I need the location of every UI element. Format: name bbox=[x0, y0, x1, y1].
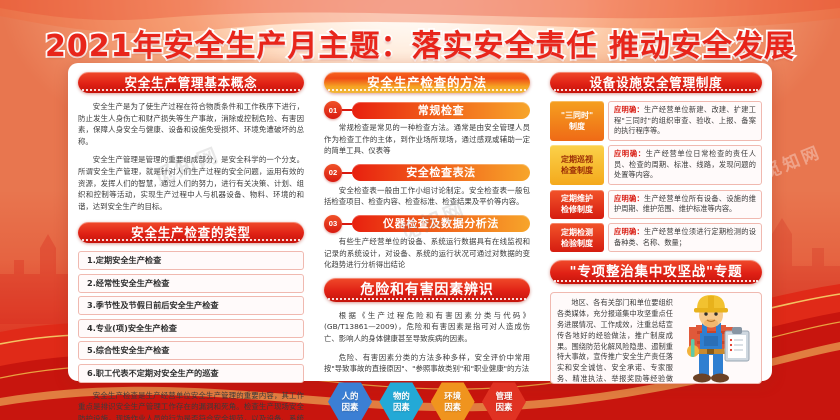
system-row-periodic-patrol: 定期巡视 检查制度 应明确：生产经营单位日常检查的责任人员、检查的周期、标准、线… bbox=[550, 145, 762, 185]
basic-concepts-paragraph-1: 安全生产是为了使生产过程在符合物质条件和工作秩序下进行，防止发生人身伤亡和财产损… bbox=[78, 101, 304, 147]
heading-inspection-methods: 安全生产检查的方法 bbox=[324, 72, 530, 93]
method-row-01: 01 常规检查 bbox=[324, 101, 530, 119]
hexagon-human-factor[interactable]: 人的 因素 bbox=[328, 382, 372, 420]
system-label: "三同时" 制度 bbox=[550, 101, 604, 141]
method-number-badge: 03 bbox=[324, 215, 342, 233]
hazard-paragraph-2: 危险、有害因素分类的方法多种多样，安全评价中常用按"导致事故的直接原因"、"参照… bbox=[324, 352, 530, 375]
system-label-line1: 定期巡视 bbox=[561, 154, 593, 165]
inspection-types-list: 1.定期安全生产检查 2.经常性安全生产检查 3.季节性及节假日前后安全生产检查… bbox=[78, 251, 304, 383]
system-row-three-simultaneous: "三同时" 制度 应明确：生产经营单位新建、改建、扩建工程"三同时"的组织审查、… bbox=[550, 101, 762, 141]
list-item[interactable]: 4.专业(项)安全生产检查 bbox=[78, 319, 304, 338]
poster-canvas: 2021年安全生产月主题：落实安全责任 推动安全发展 安全生产管理基本概念 安全… bbox=[0, 0, 840, 420]
method-title: 常规检查 bbox=[352, 102, 530, 119]
system-description-prefix: 应明确： bbox=[614, 105, 644, 114]
system-label: 定期巡视 检查制度 bbox=[550, 145, 604, 185]
hexagon-label-line2: 因素 bbox=[393, 402, 410, 413]
hexagon-environment-factor[interactable]: 环境 因素 bbox=[431, 382, 475, 420]
method-connector-dash bbox=[342, 172, 352, 174]
system-label-line1: 定期维护 bbox=[561, 193, 593, 204]
system-label-line2: 检修制度 bbox=[561, 204, 593, 215]
hexagon-material-factor[interactable]: 物的 因素 bbox=[379, 382, 423, 420]
method-number-badge: 01 bbox=[324, 101, 342, 119]
campaign-content-box: 地区、各有关部门和单位要组织各类媒体，充分报道集中攻坚重点任务进展情况、工作成效… bbox=[550, 292, 762, 384]
hexagon-label-line1: 人的 bbox=[342, 391, 359, 402]
system-row-periodic-testing: 定期检测 检验制度 应明确：生产经营单位须进行定期检测的设备种类、名称、数量； bbox=[550, 223, 762, 252]
poster-title: 2021年安全生产月主题：落实安全责任 推动安全发展 bbox=[45, 21, 795, 65]
campaign-text: 地区、各有关部门和单位要组织各类媒体，充分报道集中攻坚重点任务进展情况、工作成效… bbox=[557, 298, 673, 384]
list-item[interactable]: 6.职工代表不定期对安全生产的巡查 bbox=[78, 364, 304, 383]
heading-basic-concepts: 安全生产管理基本概念 bbox=[78, 72, 304, 93]
heading-hazard-identification: 危险和有害因素辨识 bbox=[324, 278, 530, 302]
column-2: 安全生产检查的方法 01 常规检查 常规检查是常见的一种检查方法。通常是由安全管… bbox=[314, 63, 540, 381]
method-text-03: 有些生产经营单位的设备、系统运行数据具有在线监视和记录的系统设计，对设备、系统的… bbox=[324, 236, 530, 271]
hazard-factor-hexagons: 人的 因素 物的 因素 环境 因素 管理 因素 bbox=[324, 382, 530, 420]
method-row-03: 03 仪器检查及数据分析法 bbox=[324, 215, 530, 233]
system-description: 应明确：生产经营单位所有设备、设施的维护周期、维护范围、维护标准等内容。 bbox=[608, 190, 762, 219]
column-1: 安全生产管理基本概念 安全生产是为了使生产过程在符合物质条件和工作秩序下进行，防… bbox=[68, 63, 314, 381]
column-3: 设备设施安全管理制度 "三同时" 制度 应明确：生产经营单位新建、改建、扩建工程… bbox=[540, 63, 772, 381]
hexagon-management-factor[interactable]: 管理 因素 bbox=[482, 382, 526, 420]
list-item[interactable]: 3.季节性及节假日前后安全生产检查 bbox=[78, 296, 304, 315]
system-label-line2: 检查制度 bbox=[561, 165, 593, 176]
method-title: 安全检查表法 bbox=[352, 164, 530, 181]
hexagon-label-line2: 因素 bbox=[444, 402, 461, 413]
system-label-line2: 制度 bbox=[569, 121, 585, 132]
system-label: 定期维护 检修制度 bbox=[550, 190, 604, 219]
system-label: 定期检测 检验制度 bbox=[550, 223, 604, 252]
method-row-02: 02 安全检查表法 bbox=[324, 164, 530, 182]
system-description: 应明确：生产经营单位日常检查的责任人员、检查的周期、标准、线路，发现问题的处置等… bbox=[608, 145, 762, 185]
inspection-types-footer: 安全生产检查是生产经营单位安全生产管理的重要内容，其工作重点是排识安全生产管理工… bbox=[78, 390, 304, 420]
method-title: 仪器检查及数据分析法 bbox=[352, 215, 530, 232]
system-description-prefix: 应明确： bbox=[614, 227, 644, 236]
system-description-prefix: 应明确： bbox=[614, 194, 644, 203]
main-content-panel: 安全生产管理基本概念 安全生产是为了使生产过程在符合物质条件和工作秩序下进行，防… bbox=[68, 63, 772, 381]
system-label-line1: 定期检测 bbox=[561, 227, 593, 238]
system-description: 应明确：生产经营单位新建、改建、扩建工程"三同时"的组织审查、验收、上报、备案的… bbox=[608, 101, 762, 141]
method-text-02: 安全检查表一般由工作小组讨论制定。安全检查表一般包括检查项目、检查内容、检查标准… bbox=[324, 185, 530, 208]
system-description-prefix: 应明确： bbox=[614, 149, 646, 158]
hexagon-label-line1: 物的 bbox=[393, 391, 410, 402]
system-description: 应明确：生产经营单位须进行定期检测的设备种类、名称、数量； bbox=[608, 223, 762, 252]
list-item[interactable]: 2.经常性安全生产检查 bbox=[78, 274, 304, 293]
method-number-badge: 02 bbox=[324, 164, 342, 182]
heading-equipment-management: 设备设施安全管理制度 bbox=[550, 72, 762, 93]
hexagon-label-line1: 环境 bbox=[444, 391, 461, 402]
list-item[interactable]: 5.综合性安全生产检查 bbox=[78, 341, 304, 360]
hazard-paragraph-1: 根据《生产过程危险和有害因素分类与代码》(GB/T13861—2009)，危险和… bbox=[324, 310, 530, 345]
construction-worker-illustration bbox=[663, 293, 759, 383]
method-connector-dash bbox=[342, 109, 352, 111]
heading-inspection-types: 安全生产检查的类型 bbox=[78, 222, 304, 243]
poster-title-container: 2021年安全生产月主题：落实安全责任 推动安全发展 bbox=[0, 21, 840, 65]
basic-concepts-paragraph-2: 安全生产管理是管理的重要组成部分，是安全科学的一个分支。所谓安全生产管理，就是针… bbox=[78, 154, 304, 212]
hexagon-label-line2: 因素 bbox=[342, 402, 359, 413]
method-text-01: 常规检查是常见的一种检查方法。通常是由安全管理人员作为检查工作的主体，到作业场所… bbox=[324, 122, 530, 157]
heading-special-campaign: "专项整治集中攻坚战"专题宣传活动 bbox=[550, 260, 762, 284]
system-label-line1: "三同时" bbox=[561, 110, 593, 121]
hexagon-label-line2: 因素 bbox=[496, 402, 513, 413]
hexagon-label-line1: 管理 bbox=[496, 391, 513, 402]
system-row-periodic-maintenance: 定期维护 检修制度 应明确：生产经营单位所有设备、设施的维护周期、维护范围、维护… bbox=[550, 190, 762, 219]
system-label-line2: 检验制度 bbox=[561, 238, 593, 249]
method-connector-dash bbox=[342, 223, 352, 225]
list-item[interactable]: 1.定期安全生产检查 bbox=[78, 251, 304, 270]
